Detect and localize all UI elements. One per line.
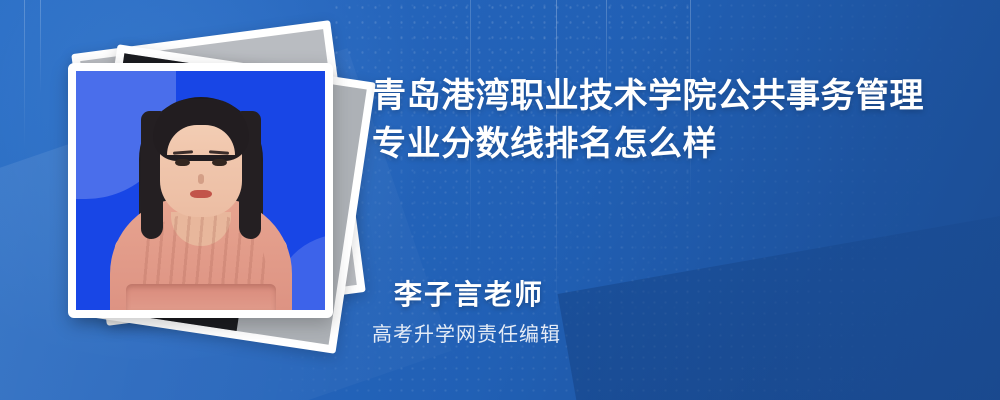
banner-text-block: 青岛港湾职业技术学院公共事务管理专业分数线排名怎么样 李子言老师 高考升学网责任…	[372, 0, 972, 400]
author-role: 高考升学网责任编辑	[372, 318, 561, 347]
author-name: 李子言老师	[394, 273, 544, 313]
portrait-eye-right	[212, 159, 227, 166]
portrait-eye-left	[175, 159, 190, 166]
id-photo-portrait-icon	[76, 71, 325, 310]
article-cover-banner: 青岛港湾职业技术学院公共事务管理专业分数线排名怎么样 李子言老师 高考升学网责任…	[0, 0, 1000, 400]
portrait-nose	[198, 174, 204, 184]
portrait-mouth	[190, 190, 212, 198]
author-photo-card	[68, 63, 333, 318]
photo-card-stack	[0, 0, 360, 400]
portrait-dress-waist	[126, 284, 276, 310]
portrait-hair-front	[153, 99, 249, 161]
article-title: 青岛港湾职业技术学院公共事务管理专业分数线排名怎么样	[372, 72, 952, 169]
